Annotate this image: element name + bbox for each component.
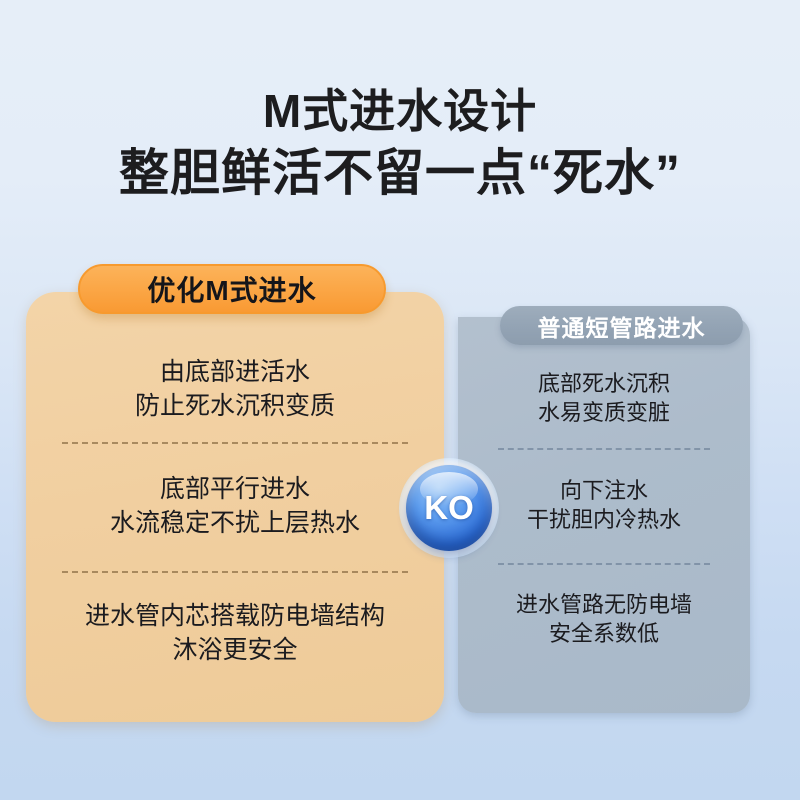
ko-badge-ball: KO bbox=[406, 465, 492, 551]
feature-item: 进水管路无防电墙 安全系数低 bbox=[458, 565, 750, 649]
feature-list-optimized: 由底部进活水 防止死水沉积变质 底部平行进水 水流稳定不扰上层热水 进水管内芯搭… bbox=[26, 340, 444, 667]
ko-versus-badge: KO bbox=[406, 465, 492, 551]
feature-line-1: 进水管路无防电墙 bbox=[458, 590, 750, 619]
badge-ordinary-label: 普通短管路进水 bbox=[538, 309, 706, 343]
headline-line-2: 整胆鲜活不留一点“死水” bbox=[0, 148, 800, 198]
ko-badge-label: KO bbox=[424, 489, 474, 527]
feature-line-1: 向下注水 bbox=[458, 476, 750, 505]
feature-item: 向下注水 干扰胆内冷热水 bbox=[458, 450, 750, 563]
feature-item: 底部平行进水 水流稳定不扰上层热水 bbox=[26, 444, 444, 571]
feature-line-1: 进水管内芯搭载防电墙结构 bbox=[26, 600, 444, 634]
feature-line-2: 干扰胆内冷热水 bbox=[458, 505, 750, 534]
feature-item: 由底部进活水 防止死水沉积变质 bbox=[26, 340, 444, 442]
feature-list-ordinary: 底部死水沉积 水易变质变脏 向下注水 干扰胆内冷热水 进水管路无防电墙 安全系数… bbox=[458, 358, 750, 649]
feature-line-1: 底部死水沉积 bbox=[458, 369, 750, 398]
page-title: M式进水设计 整胆鲜活不留一点“死水” bbox=[0, 88, 800, 198]
badge-optimized-inlet: 优化M式进水 bbox=[78, 264, 386, 314]
feature-line-1: 底部平行进水 bbox=[26, 473, 444, 507]
feature-item: 底部死水沉积 水易变质变脏 bbox=[458, 358, 750, 448]
headline-line-1: M式进水设计 bbox=[0, 88, 800, 134]
badge-ordinary-inlet: 普通短管路进水 bbox=[500, 306, 743, 345]
feature-line-2: 沐浴更安全 bbox=[26, 634, 444, 668]
feature-item: 进水管内芯搭载防电墙结构 沐浴更安全 bbox=[26, 573, 444, 667]
feature-line-2: 防止死水沉积变质 bbox=[26, 390, 444, 424]
feature-line-2: 水易变质变脏 bbox=[458, 398, 750, 427]
infographic-canvas: M式进水设计 整胆鲜活不留一点“死水” 普通短管路进水 优化M式进水 由底部进活… bbox=[0, 0, 800, 800]
feature-line-2: 安全系数低 bbox=[458, 619, 750, 648]
feature-line-1: 由底部进活水 bbox=[26, 356, 444, 390]
feature-line-2: 水流稳定不扰上层热水 bbox=[26, 507, 444, 541]
badge-optimized-label: 优化M式进水 bbox=[147, 269, 316, 309]
